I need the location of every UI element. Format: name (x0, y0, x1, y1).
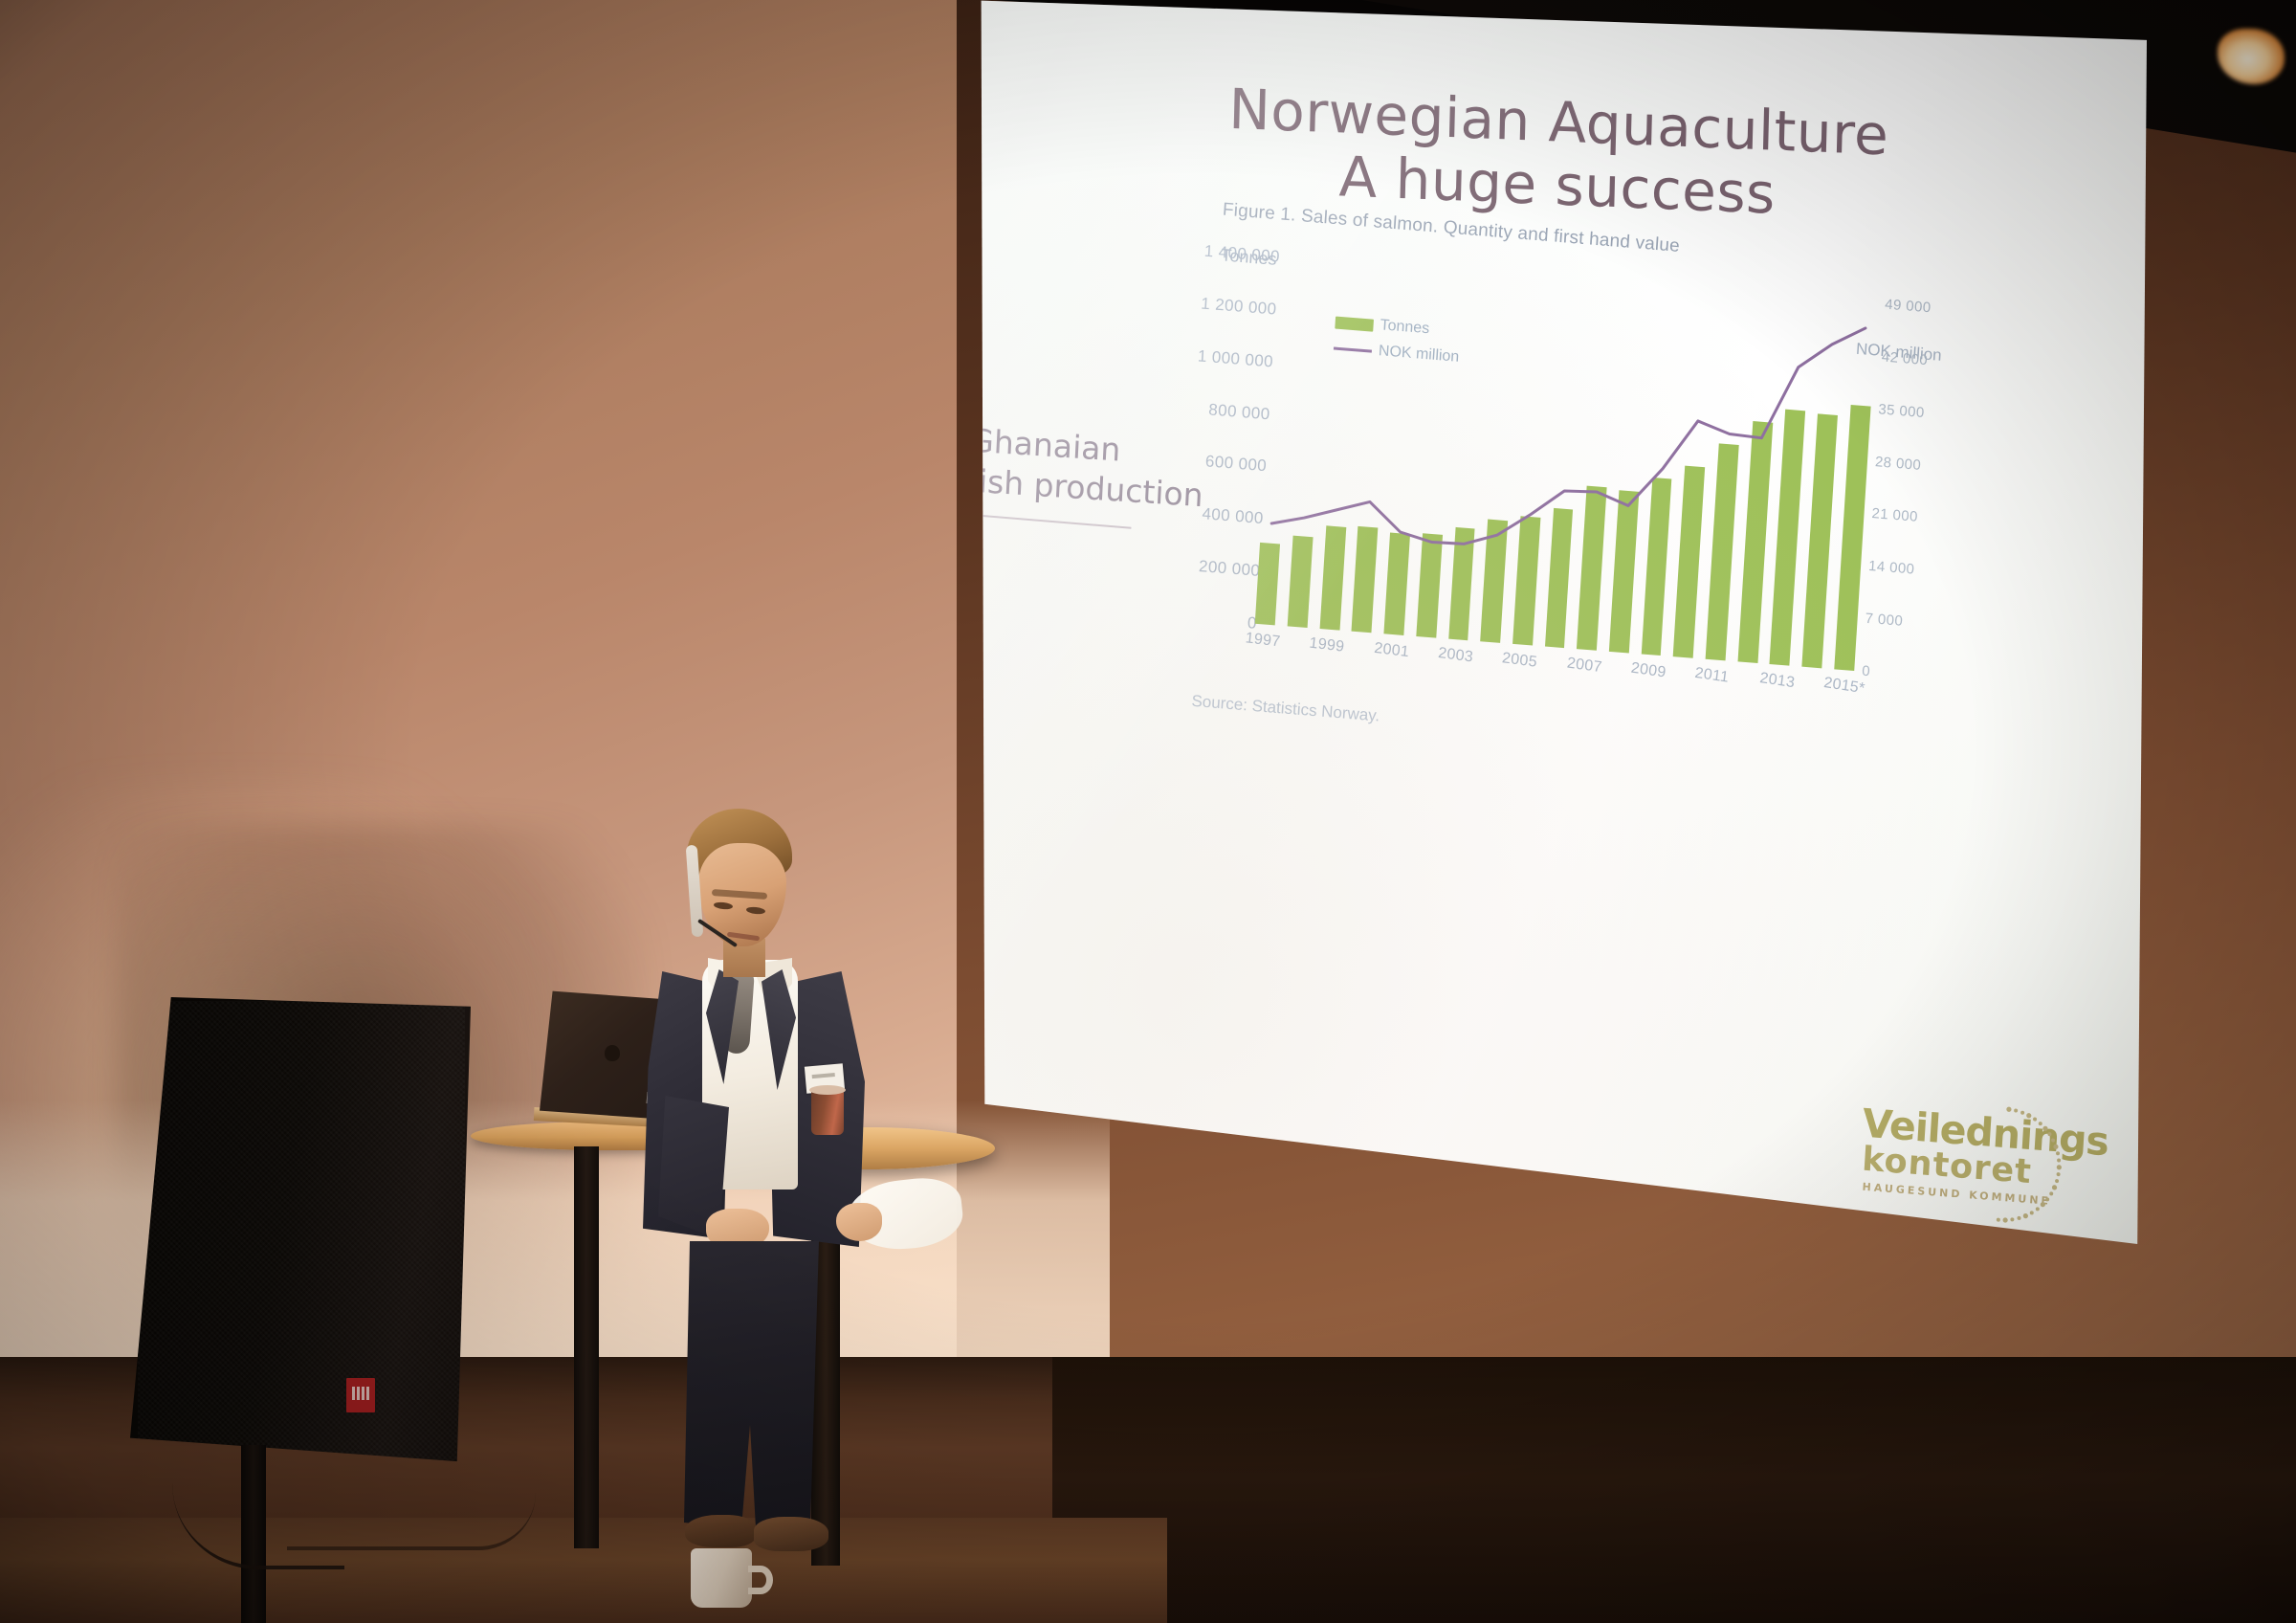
x-tick-label: 2011 (1694, 665, 1731, 687)
projection-screen: Norwegian Aquaculture A huge success Fig… (978, 0, 2147, 1267)
y-tick-label: 1 400 000 (1146, 237, 1281, 267)
back-table-leg (574, 1146, 599, 1548)
chart-legend: Tonnes NOK million (1333, 314, 1462, 375)
x-tick-label: 2003 (1437, 645, 1474, 666)
legend-bar-swatch-icon (1335, 316, 1374, 331)
sales-of-salmon-chart: 0200 000400 000600 000800 0001 000 0001 … (1192, 249, 1961, 708)
x-tick-label: 2015* (1822, 675, 1865, 698)
floor-cable (287, 1435, 536, 1550)
presenter (631, 809, 880, 1574)
floor-mug (691, 1548, 752, 1608)
y-tick-label: 1 200 000 (1142, 290, 1277, 320)
slide-content: Norwegian Aquaculture A huge success Fig… (942, 0, 2146, 1318)
floor-mug-handle (748, 1566, 773, 1594)
x-tick-label: 2001 (1373, 640, 1409, 661)
x-tick-label: 2009 (1630, 660, 1667, 682)
secondary-y-tick-label: 0 (1862, 663, 1977, 688)
coffee-cup-rim (809, 1085, 846, 1095)
y-tick-label: 1 000 000 (1139, 342, 1274, 371)
x-tick-label: 1997 (1245, 630, 1281, 651)
secondary-y-tick-label: 28 000 (1874, 454, 1990, 478)
logo-dot-arc-icon (1962, 1099, 2094, 1233)
slide-title: Norwegian Aquaculture A huge success (972, 67, 2143, 240)
secondary-y-tick-label: 14 000 (1868, 558, 1984, 583)
stage-floor-shadow (1052, 1357, 2296, 1623)
pa-speaker (130, 997, 471, 1466)
x-tick-label: 2005 (1501, 650, 1538, 672)
trousers (681, 1241, 825, 1528)
jbl-logo-icon (346, 1378, 375, 1412)
chart-source: Source: Statistics Norway. (1191, 692, 1380, 726)
photo-scene: Norwegian Aquaculture A huge success Fig… (0, 0, 2296, 1623)
shoe-right (754, 1517, 828, 1551)
y-tick-label: 800 000 (1136, 394, 1270, 424)
shoe-left (685, 1515, 756, 1547)
legend-item-nok-million: NOK million (1333, 339, 1459, 366)
y-tick-label: 400 000 (1129, 499, 1264, 528)
y-tick-label: 0 (1122, 604, 1257, 634)
coffee-cup (811, 1089, 844, 1135)
legend-label-nok-million: NOK million (1378, 343, 1459, 367)
x-tick-label: 2013 (1758, 670, 1796, 692)
side-note-underline (969, 514, 1132, 529)
legend-label-tonnes: Tonnes (1380, 317, 1430, 338)
secondary-y-tick-label: 35 000 (1878, 401, 1994, 426)
laptop-brand-logo-icon (605, 1045, 620, 1061)
y-tick-label: 200 000 (1126, 551, 1261, 581)
x-tick-label: 2007 (1566, 655, 1603, 677)
secondary-y-tick-label: 42 000 (1881, 348, 1997, 373)
secondary-y-tick-label: 49 000 (1885, 297, 2000, 322)
hand-right (836, 1203, 882, 1241)
secondary-y-tick-label: 21 000 (1871, 505, 1987, 530)
secondary-y-tick-label: 7 000 (1865, 611, 1980, 635)
speaker-grill (138, 1001, 465, 1460)
legend-line-swatch-icon (1334, 346, 1372, 352)
x-tick-label: 1999 (1309, 635, 1345, 656)
